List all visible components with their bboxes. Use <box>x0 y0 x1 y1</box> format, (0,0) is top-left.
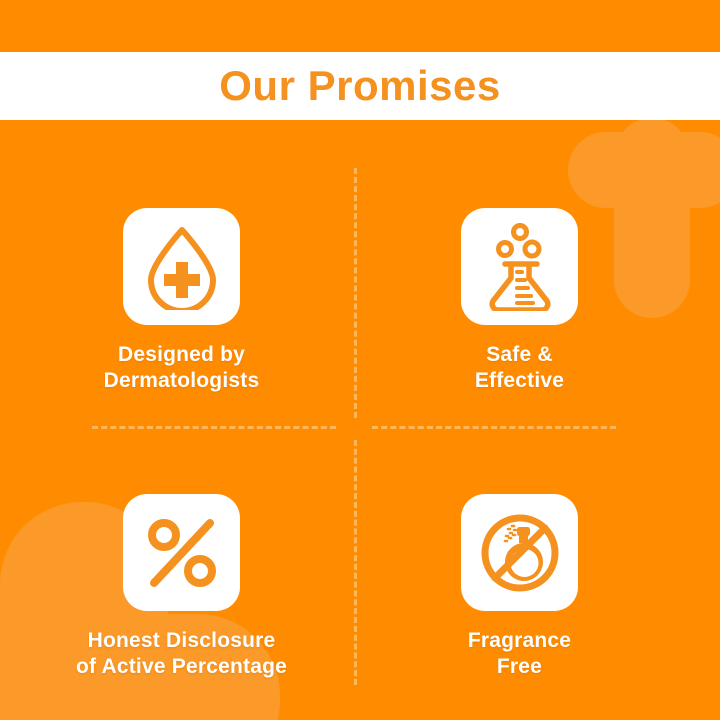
promise-label: Honest Disclosure of Active Percentage <box>76 628 287 681</box>
promise-item-fragrance-free: Fragrance Free <box>355 426 720 720</box>
no-fragrance-icon <box>478 511 562 595</box>
promise-item-safe-and-effective: Safe & Effective <box>355 120 720 426</box>
promise-label: Fragrance Free <box>468 628 571 681</box>
promise-label: Safe & Effective <box>475 342 564 395</box>
icon-card <box>461 494 578 611</box>
promise-item-honest-disclosure: Honest Disclosure of Active Percentage <box>0 426 355 720</box>
promise-grid: Designed by Dermatologists Safe & Effect… <box>0 120 720 720</box>
percent-icon <box>144 515 220 591</box>
promise-label: Designed by Dermatologists <box>104 342 260 395</box>
icon-card <box>123 494 240 611</box>
droplet-plus-icon <box>143 224 221 310</box>
icon-card <box>461 208 578 325</box>
header-band: Our Promises <box>0 52 720 120</box>
icon-card <box>123 208 240 325</box>
promises-poster: Our Promises Designed by Dermatologists <box>0 0 720 720</box>
flask-icon <box>480 223 560 311</box>
page-title: Our Promises <box>219 65 500 107</box>
promise-item-designed-by-dermatologists: Designed by Dermatologists <box>0 120 355 426</box>
